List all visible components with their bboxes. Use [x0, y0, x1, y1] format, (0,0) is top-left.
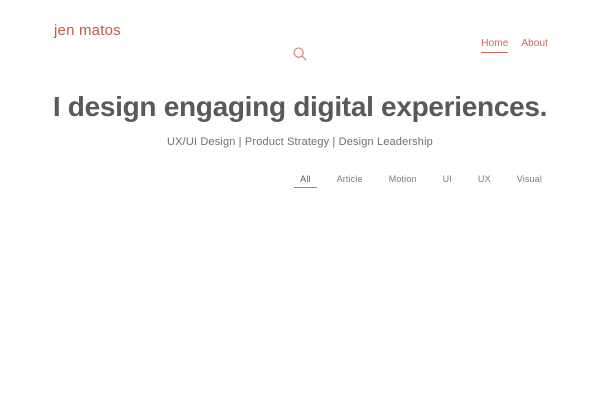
page-title: I design engaging digital experiences. [0, 90, 600, 124]
filter-article[interactable]: Article [331, 172, 369, 187]
filter-motion[interactable]: Motion [383, 172, 423, 187]
search-icon[interactable] [292, 46, 308, 62]
main-navigation: Home About [481, 37, 548, 53]
nav-link-home[interactable]: Home [481, 37, 508, 53]
hero-subtitle: UX/UI Design | Product Strategy | Design… [0, 124, 600, 150]
site-header: jen matos Home About [0, 0, 600, 78]
nav-link-about[interactable]: About [521, 37, 548, 52]
hero-section: I design engaging digital experiences. U… [0, 78, 600, 150]
filter-all[interactable]: All [294, 172, 316, 188]
portfolio-filter-bar: All Article Motion UI UX Visual [0, 150, 600, 188]
site-logo[interactable]: jen matos [54, 21, 121, 41]
filter-visual[interactable]: Visual [511, 172, 548, 187]
filter-ui[interactable]: UI [437, 172, 458, 187]
filter-ux[interactable]: UX [472, 172, 497, 187]
